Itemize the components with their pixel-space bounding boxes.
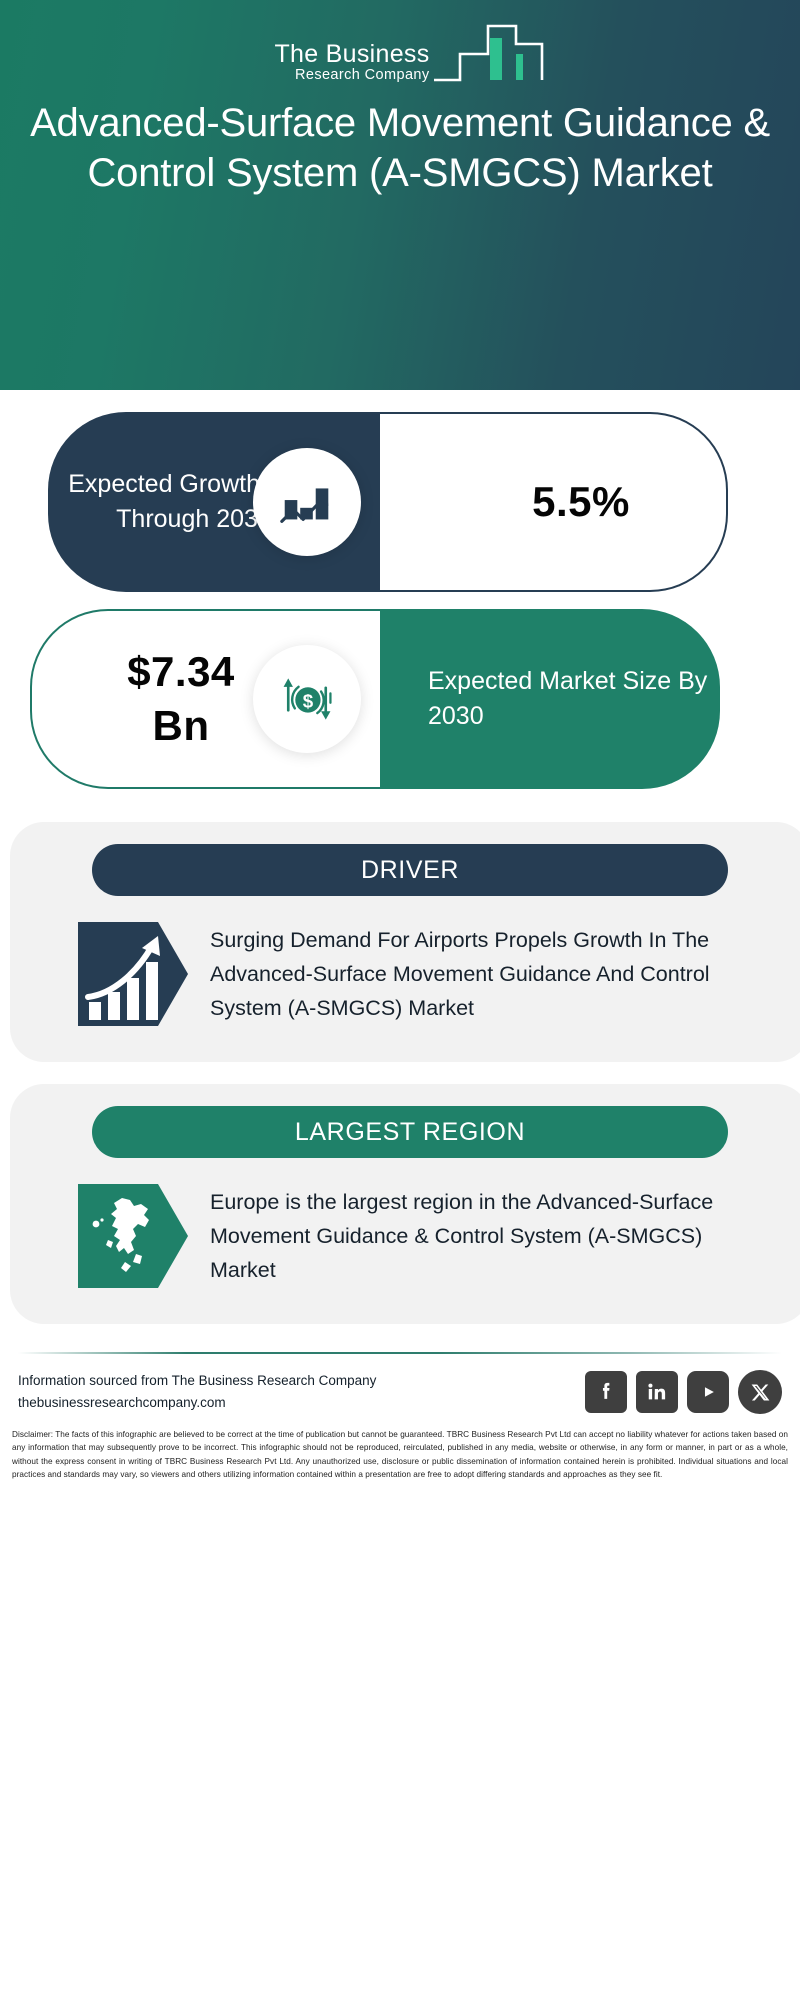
logo-secondary-text: Research Company bbox=[274, 67, 429, 84]
stat-card-market-size-label-panel: Expected Market Size By 2030 bbox=[380, 609, 720, 789]
social-links bbox=[585, 1370, 782, 1414]
x-twitter-icon[interactable] bbox=[738, 1370, 782, 1414]
driver-pill-label: DRIVER bbox=[361, 856, 459, 885]
logo-bar-chart-icon bbox=[432, 20, 550, 88]
largest-region-body-text: Europe is the largest region in the Adva… bbox=[210, 1184, 762, 1288]
footer-source-url[interactable]: thebusinessresearchcompany.com bbox=[18, 1392, 376, 1414]
footer-source: Information sourced from The Business Re… bbox=[18, 1370, 376, 1414]
dollar-cycle-icon: $ bbox=[253, 645, 361, 753]
driver-body-text: Surging Demand For Airports Propels Grow… bbox=[210, 922, 752, 1026]
youtube-icon[interactable] bbox=[687, 1371, 729, 1413]
driver-pill: DRIVER bbox=[92, 844, 728, 896]
footer-source-line1: Information sourced from The Business Re… bbox=[18, 1370, 376, 1392]
stat-card-market-size-value-line1: $7.34 bbox=[127, 645, 235, 699]
page-title: Advanced-Surface Movement Guidance & Con… bbox=[0, 98, 800, 198]
stat-card-growth-rate-value: 5.5% bbox=[532, 478, 630, 526]
linkedin-icon[interactable] bbox=[636, 1371, 678, 1413]
largest-region-panel: LARGEST REGION Europe is the largest reg… bbox=[10, 1084, 800, 1324]
largest-region-pill-label: LARGEST REGION bbox=[295, 1118, 525, 1147]
driver-panel: DRIVER Surging Demand For Airports Prope… bbox=[10, 822, 800, 1062]
stat-card-market-size-label: Expected Market Size By 2030 bbox=[428, 664, 720, 735]
stat-card-growth-rate: Expected Growth Rate Through 2030 5.5% bbox=[0, 390, 800, 595]
europe-map-icon bbox=[78, 1184, 188, 1294]
footer: Information sourced from The Business Re… bbox=[0, 1352, 800, 1481]
header-banner: The Business Research Company Advanced-S… bbox=[0, 0, 800, 390]
logo-primary-text: The Business bbox=[274, 41, 429, 67]
largest-region-pill: LARGEST REGION bbox=[92, 1106, 728, 1158]
svg-text:$: $ bbox=[303, 690, 314, 711]
rising-bar-chart-arrow-icon bbox=[78, 922, 188, 1032]
stat-card-market-size-value-line2: Bn bbox=[127, 699, 235, 753]
logo: The Business Research Company bbox=[0, 20, 800, 88]
disclaimer-text: Disclaimer: The facts of this infographi… bbox=[0, 1414, 800, 1481]
stat-card-growth-rate-value-panel: 5.5% bbox=[380, 412, 728, 592]
growth-chart-arrow-icon bbox=[253, 448, 361, 556]
facebook-icon[interactable] bbox=[585, 1371, 627, 1413]
stats-section: Expected Growth Rate Through 2030 5.5% $… bbox=[0, 390, 800, 800]
stat-card-market-size: $7.34 Bn Expected Market Size By 2030 $ bbox=[0, 595, 800, 800]
